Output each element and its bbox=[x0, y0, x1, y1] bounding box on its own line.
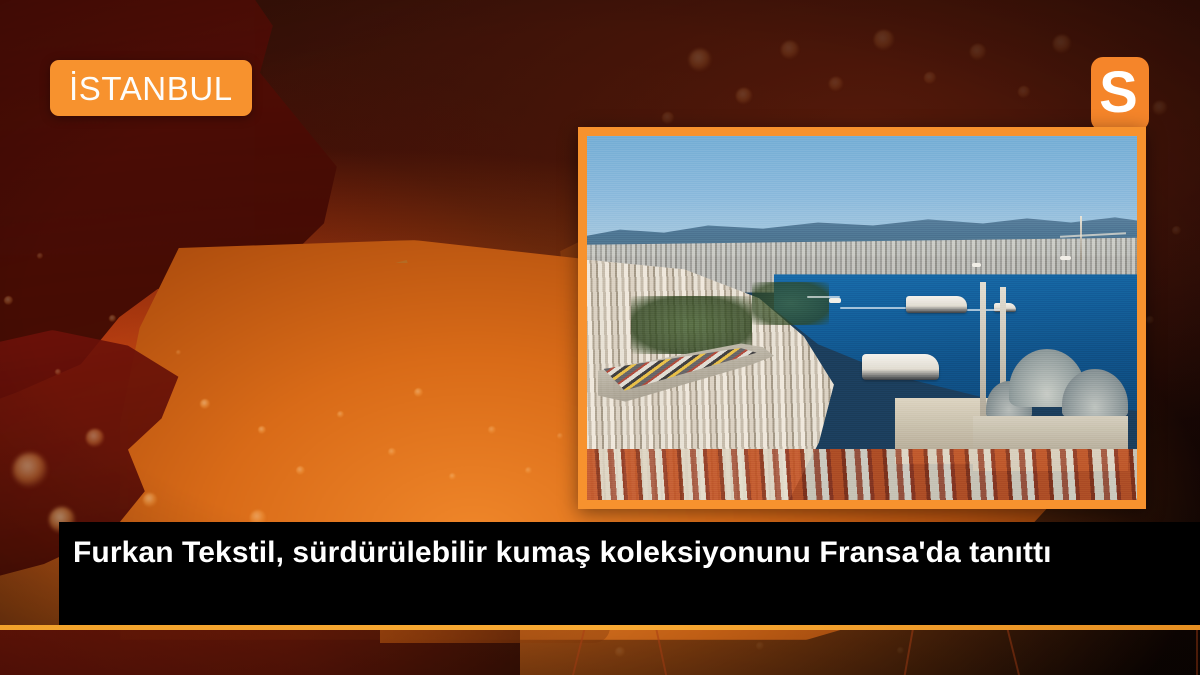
photo-frame bbox=[578, 127, 1146, 509]
location-badge-label: İSTANBUL bbox=[69, 72, 233, 105]
s-brand-logo[interactable]: S bbox=[1091, 57, 1149, 131]
brand-logo-letter: S bbox=[1099, 64, 1138, 122]
news-card: İSTANBUL S bbox=[0, 0, 1200, 675]
headline-bar: Furkan Tekstil, sürdürülebilir kumaş kol… bbox=[59, 522, 1200, 625]
photo-grain bbox=[587, 136, 1137, 500]
istanbul-photo bbox=[587, 136, 1137, 500]
accent-rule bbox=[0, 625, 1200, 630]
location-badge: İSTANBUL bbox=[50, 60, 252, 116]
headline-text: Furkan Tekstil, sürdürülebilir kumaş kol… bbox=[73, 535, 1163, 572]
